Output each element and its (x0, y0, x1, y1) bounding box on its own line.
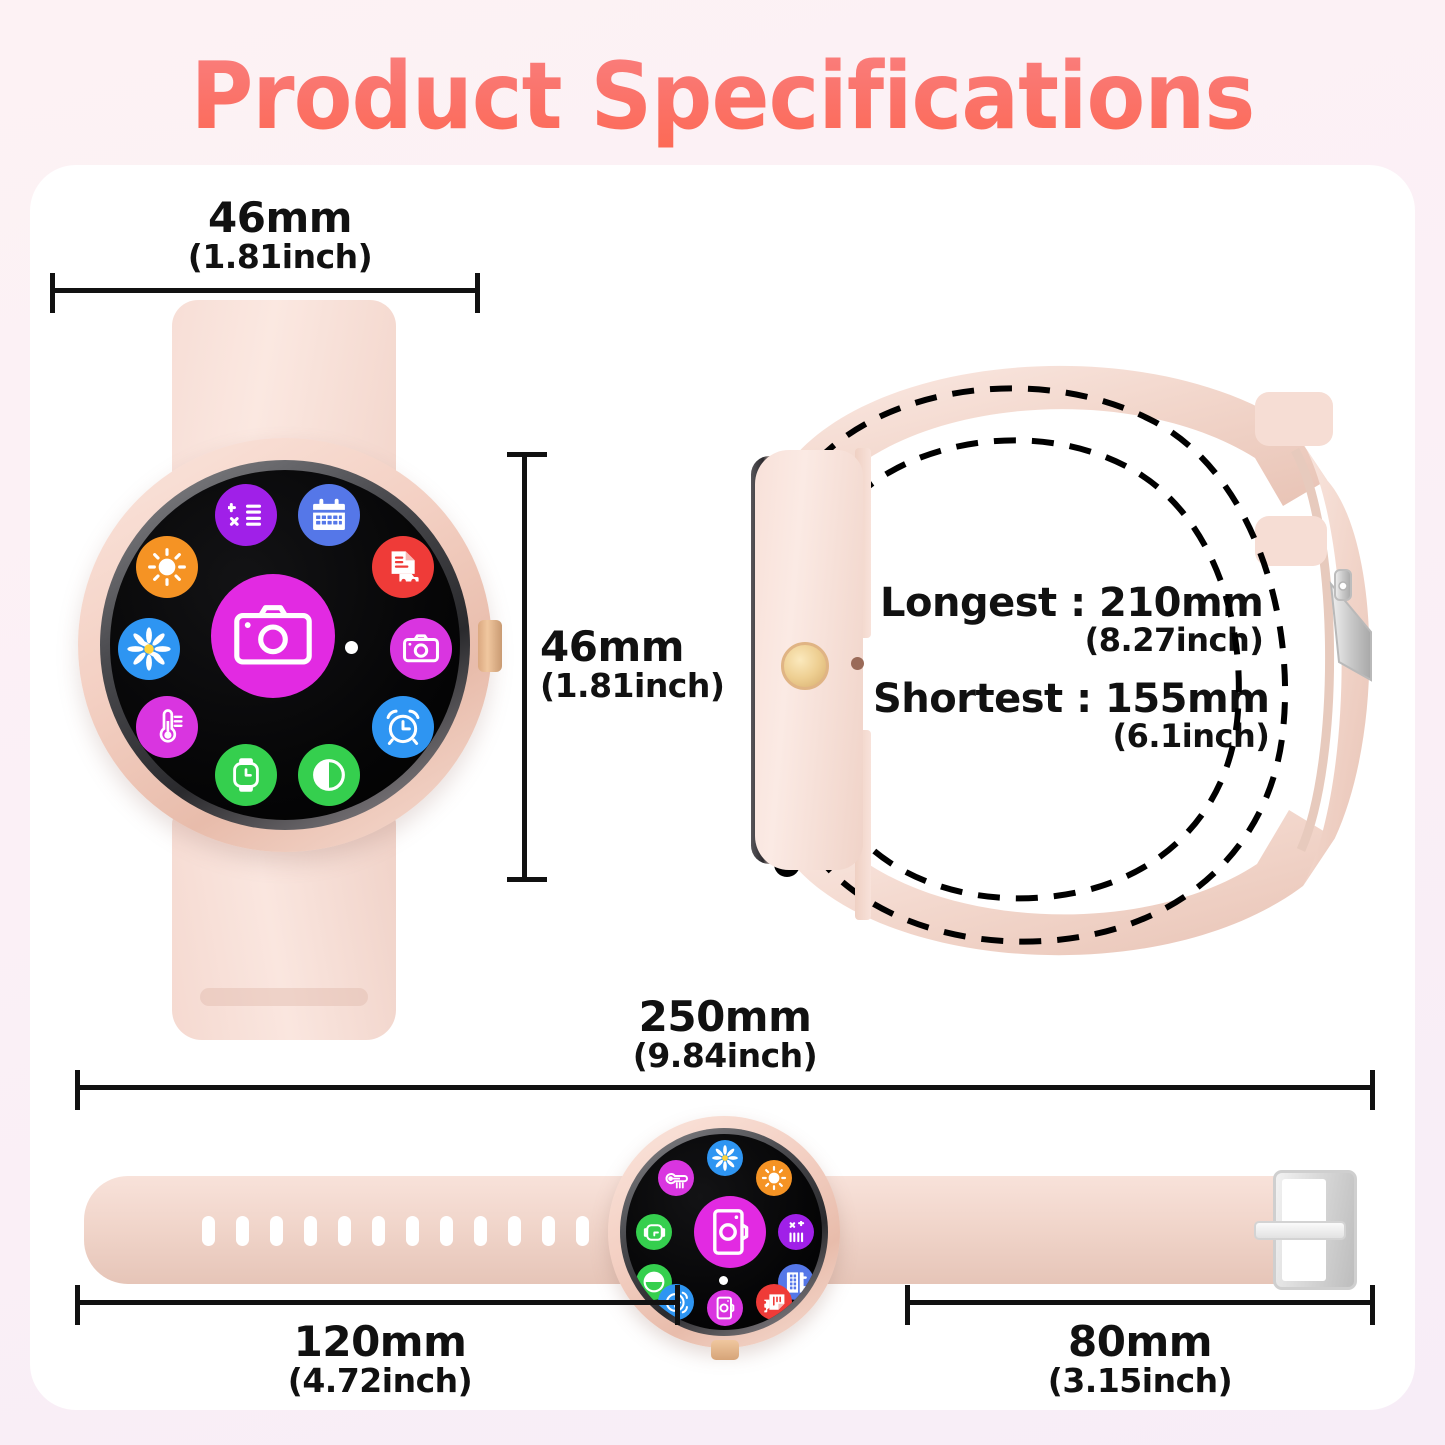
watch-screen[interactable] (110, 470, 460, 820)
alarm-clock-icon (384, 708, 422, 746)
calculator-app-icon[interactable] (778, 1214, 814, 1250)
case-height-label: 46mm (1.81inch) (540, 625, 724, 704)
strap-right-label: 80mm (3.15inch) (990, 1320, 1290, 1399)
watch-microphone (851, 657, 864, 670)
strap-hole (542, 1216, 555, 1246)
flower-icon (127, 627, 171, 671)
strap-hole (406, 1216, 419, 1246)
contrast-icon (309, 755, 349, 795)
thermometer-app-icon[interactable] (136, 696, 198, 758)
thermometer-app-icon[interactable] (658, 1160, 694, 1196)
sun-icon (761, 1165, 787, 1191)
brightness-app-icon[interactable] (136, 536, 198, 598)
flower-app-icon[interactable] (118, 618, 180, 680)
strap-right-dimension-line (905, 1300, 1375, 1305)
document-icon (385, 549, 421, 585)
contrast-app-icon[interactable] (298, 744, 360, 806)
page-indicator-dot (345, 641, 358, 654)
case-width-dimension-line (50, 288, 480, 293)
document-app-icon[interactable] (372, 536, 434, 598)
watch-icon (643, 1221, 666, 1244)
strap-hole (304, 1216, 317, 1246)
camera-icon (232, 595, 314, 677)
brightness-app-icon[interactable] (756, 1160, 792, 1196)
buckle-tongue (1254, 1221, 1346, 1240)
calculator-app-icon[interactable] (215, 484, 277, 546)
case-width-inch: (1.81inch) (70, 240, 490, 275)
watch-crown[interactable] (478, 620, 502, 672)
calculator-icon (228, 497, 264, 533)
thermometer-icon (664, 1166, 688, 1190)
flower-app-icon[interactable] (707, 1140, 743, 1176)
calculator-icon (785, 1221, 808, 1244)
strap-right-inch: (3.15inch) (990, 1364, 1290, 1399)
strap-left-label: 120mm (4.72inch) (230, 1320, 530, 1399)
watch-bezel (100, 460, 470, 830)
strap-left-mm: 120mm (230, 1320, 530, 1364)
page-title: Product Specifications (58, 42, 1387, 150)
total-length-inch: (9.84inch) (565, 1039, 885, 1074)
strap-hole (202, 1216, 215, 1246)
watch-crown-flat[interactable] (711, 1340, 739, 1360)
camera-main-app-icon[interactable] (211, 574, 335, 698)
stopwatch-app-icon[interactable] (215, 744, 277, 806)
strap-hole (338, 1216, 351, 1246)
stopwatch-app-icon[interactable] (636, 1214, 672, 1250)
document-app-icon[interactable] (756, 1284, 792, 1320)
strap-hole (440, 1216, 453, 1246)
camera-icon (713, 1296, 737, 1320)
strap-hole (508, 1216, 521, 1246)
alarm-app-icon[interactable] (372, 696, 434, 758)
case-height-dimension-line (522, 452, 527, 882)
camera-icon (402, 630, 440, 668)
case-height-inch: (1.81inch) (540, 669, 724, 704)
watch-case (78, 438, 492, 852)
total-length-dimension-line (75, 1085, 1375, 1090)
camera-main-app-icon[interactable] (694, 1196, 766, 1268)
watch-icon (228, 757, 264, 793)
watch-side-view (735, 330, 1375, 1020)
watch-side-crown[interactable] (781, 642, 829, 690)
case-width-mm: 46mm (70, 196, 490, 240)
watch-flat-lay-view (70, 1140, 1380, 1325)
flower-icon (712, 1145, 738, 1171)
thermometer-icon (149, 709, 185, 745)
watch-case-flat (608, 1116, 840, 1348)
strap-hole (236, 1216, 249, 1246)
strap-hole (372, 1216, 385, 1246)
strap-hole (270, 1216, 283, 1246)
strap-buckle[interactable] (1273, 1170, 1357, 1290)
strap-hole (474, 1216, 487, 1246)
strap-right-mm: 80mm (990, 1320, 1290, 1364)
strap-hole (576, 1216, 589, 1246)
calendar-icon (311, 497, 347, 533)
case-height-mm: 46mm (540, 625, 724, 669)
calendar-app-icon[interactable] (298, 484, 360, 546)
watch-front-view (60, 300, 510, 1040)
camera-small-app-icon[interactable] (390, 618, 452, 680)
document-icon (762, 1290, 786, 1314)
case-width-label: 46mm (1.81inch) (70, 196, 490, 275)
camera-small-app-icon[interactable] (707, 1290, 743, 1326)
page-indicator-dot (719, 1276, 728, 1285)
strap-left-inch: (4.72inch) (230, 1364, 530, 1399)
sun-icon (147, 547, 187, 587)
camera-icon (706, 1208, 754, 1256)
strap-left-dimension-line (75, 1300, 680, 1305)
